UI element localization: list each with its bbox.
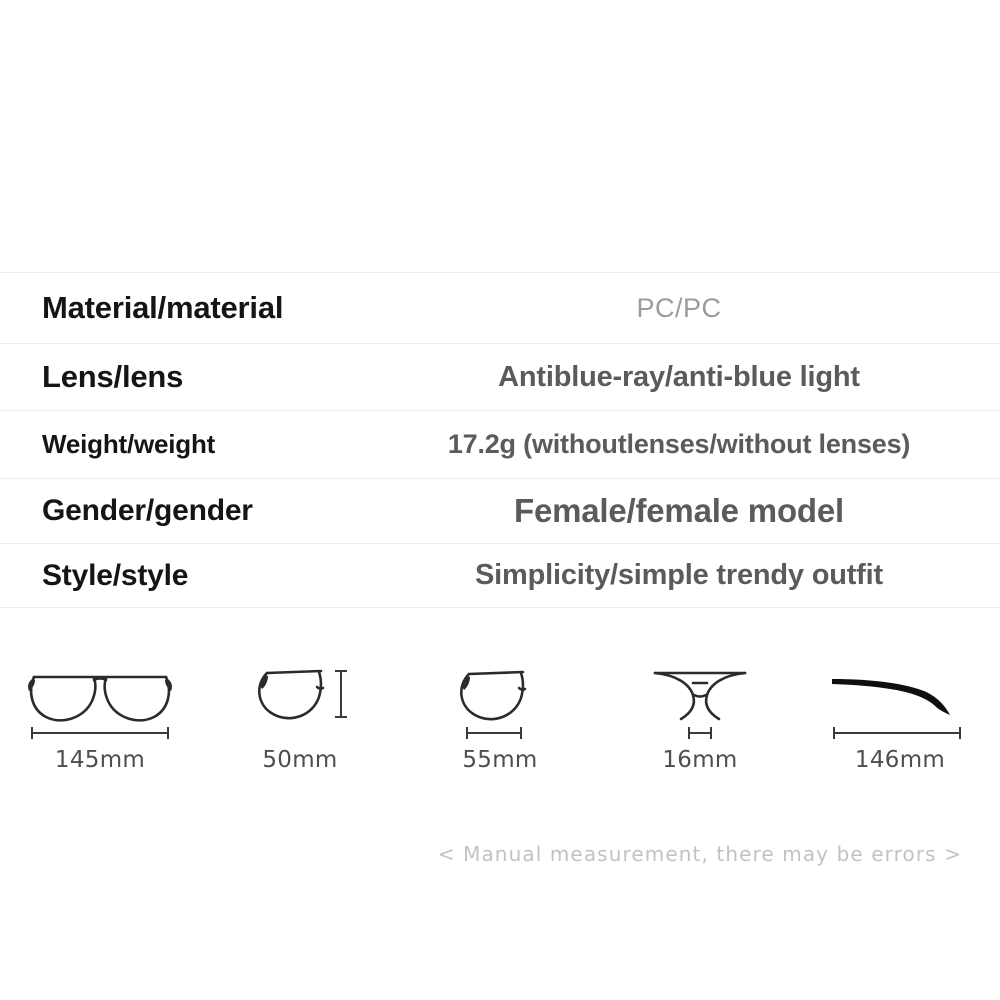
spec-label-weight: Weight/weight	[0, 429, 380, 460]
spec-label-style: Style/style	[0, 559, 380, 593]
measurement-caption: 16mm	[662, 747, 737, 773]
measurement-diagram-strip: 145mm 50mm	[0, 655, 1000, 815]
table-row: Material/material PC/PC	[0, 272, 1000, 343]
single-lens-width-icon	[445, 655, 555, 741]
nose-bridge-icon	[645, 655, 755, 741]
measurement-caption: 50mm	[262, 747, 337, 773]
single-lens-height-icon	[245, 655, 355, 741]
table-row: Weight/weight 17.2g (withoutlenses/witho…	[0, 410, 1000, 478]
spec-label-material: Material/material	[0, 290, 380, 326]
temple-arm-icon	[820, 655, 980, 741]
aviator-frame-front-icon	[14, 655, 186, 741]
measurement-caption: 55mm	[462, 747, 537, 773]
product-hero-area	[0, 0, 1000, 272]
spec-value-material: PC/PC	[380, 293, 1000, 324]
measurement-item-temple-length: 146mm	[800, 655, 1000, 773]
spec-value-weight: 17.2g (withoutlenses/without lenses)	[380, 429, 1000, 460]
measurement-item-bridge-width: 16mm	[600, 655, 800, 773]
spec-sheet-page: Material/material PC/PC Lens/lens Antibl…	[0, 0, 1000, 1000]
spec-value-gender: Female/female model	[380, 492, 1000, 530]
measurement-caption: 145mm	[55, 747, 145, 773]
specification-table: Material/material PC/PC Lens/lens Antibl…	[0, 272, 1000, 608]
table-row: Lens/lens Antiblue-ray/anti-blue light	[0, 343, 1000, 410]
page-bottom-spacer	[0, 900, 1000, 1000]
spec-value-lens: Antiblue-ray/anti-blue light	[380, 361, 1000, 394]
manual-measurement-disclaimer: < Manual measurement, there may be error…	[438, 842, 962, 866]
measurement-item-lens-width: 55mm	[400, 655, 600, 773]
spec-label-gender: Gender/gender	[0, 494, 380, 528]
spec-value-style: Simplicity/simple trendy outfit	[380, 559, 1000, 592]
measurement-caption: 146mm	[855, 747, 945, 773]
spec-label-lens: Lens/lens	[0, 359, 380, 395]
table-row: Gender/gender Female/female model	[0, 478, 1000, 543]
table-row: Style/style Simplicity/simple trendy out…	[0, 543, 1000, 608]
measurement-item-lens-height: 50mm	[200, 655, 400, 773]
measurement-item-frame-width: 145mm	[0, 655, 200, 773]
